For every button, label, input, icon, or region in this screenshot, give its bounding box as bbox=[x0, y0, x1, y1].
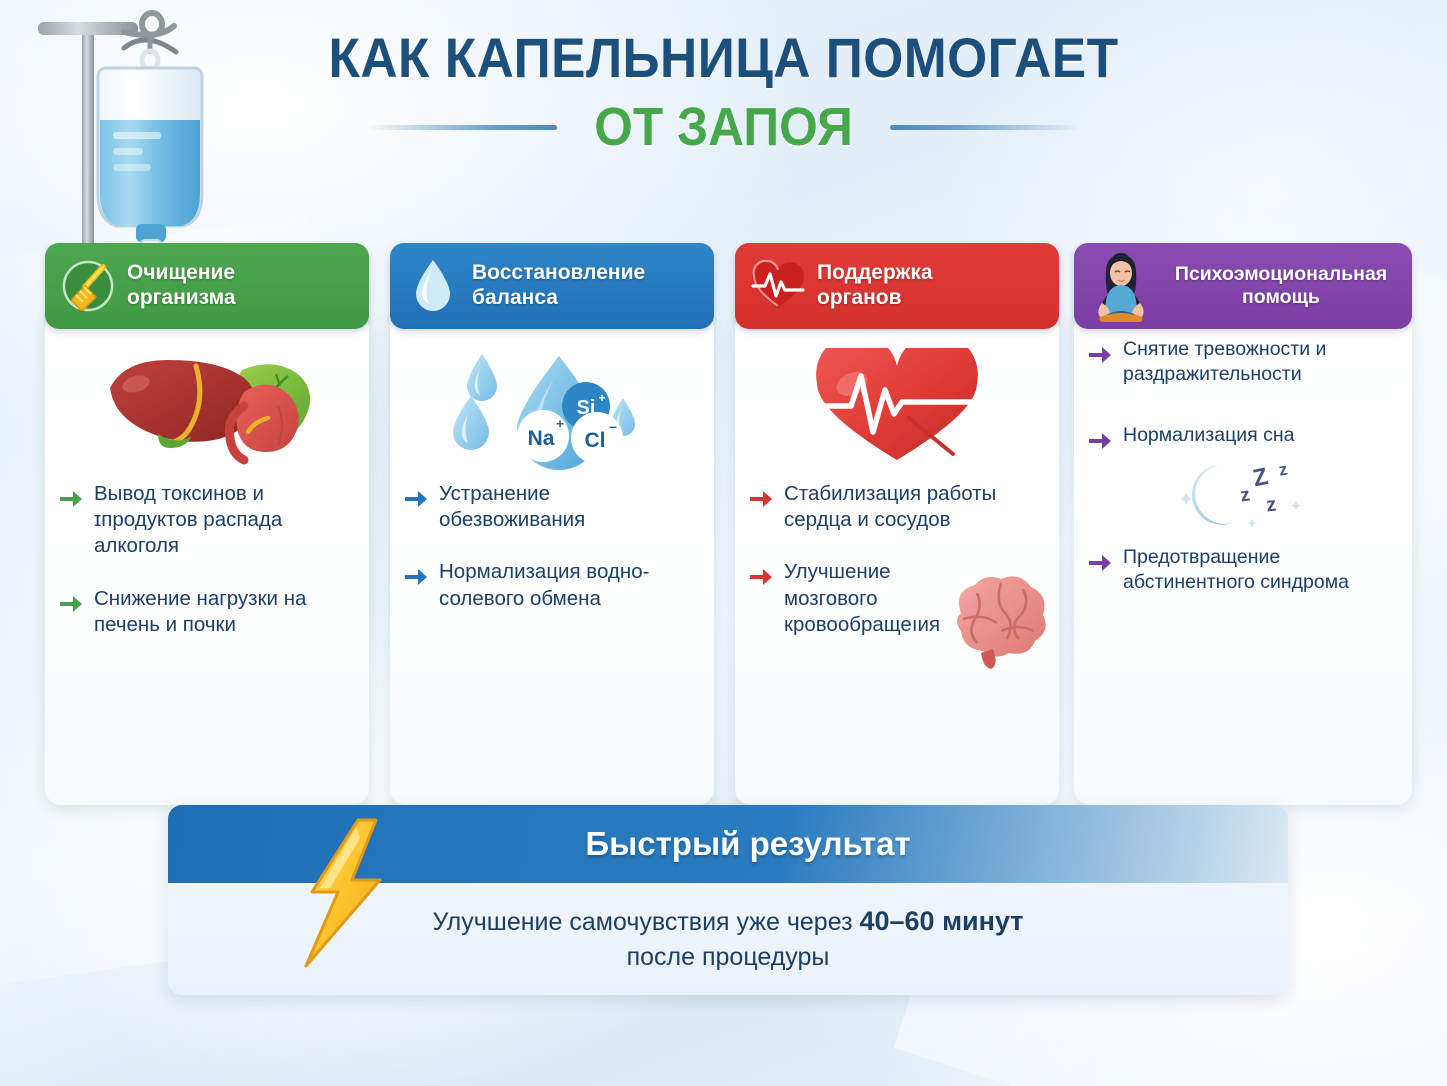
arrow-right-icon bbox=[749, 485, 773, 511]
liver-kidney-leaf-illustration bbox=[59, 345, 355, 471]
card-body: Вывод токсинов и ɪпродуктов распада алко… bbox=[45, 313, 369, 805]
svg-text:z: z bbox=[1239, 484, 1251, 506]
card-title: Поддержкаорганов bbox=[817, 261, 933, 311]
card-header: Психоэмоциональнаяпомощь bbox=[1074, 243, 1412, 329]
banner-text-before: Улучшение самочувствия уже через bbox=[432, 908, 859, 936]
page-subtitle: ОТ ЗАПОЯ bbox=[594, 100, 853, 154]
brain-illustration bbox=[941, 573, 1051, 674]
list-item: Предотвращение абстинентного синдрома bbox=[1088, 545, 1398, 595]
card-title: Очищениеорганизма bbox=[127, 261, 236, 311]
card-header: Очищениеорганизма bbox=[45, 243, 369, 329]
list-item: Снижение нагрузки на печень и почки bbox=[59, 586, 355, 638]
bullet-text: Улучшение мозгового кровообращеıия bbox=[784, 559, 954, 638]
card-bullets: Устранение обезвоживания Нормализация во… bbox=[404, 481, 700, 612]
arrow-right-icon bbox=[749, 563, 773, 589]
banner-text-primary: Улучшение самочувствия уже через 40–60 м… bbox=[432, 906, 1023, 937]
card-bullets: Стабилизация работы сердца и сосудов Улу… bbox=[749, 481, 1045, 638]
list-item: Снятие тревожности и раздражительности bbox=[1088, 337, 1398, 387]
card-ochishchenie[interactable]: Очищениеорганизма bbox=[45, 243, 369, 805]
card-podderzhka[interactable]: Поддержкаорганов bbox=[735, 243, 1059, 805]
title-divider-left bbox=[367, 125, 557, 130]
card-body: Si + Na + Cl – Устран bbox=[390, 313, 714, 805]
heart-with-ecg-illustration bbox=[749, 345, 1045, 471]
svg-text:–: – bbox=[609, 418, 617, 434]
svg-text:Z: Z bbox=[1250, 463, 1270, 492]
arrow-right-icon bbox=[1088, 427, 1112, 453]
bullet-text: Предотвращение абстинентного синдрома bbox=[1123, 545, 1398, 595]
svg-text:z: z bbox=[1277, 459, 1289, 479]
list-item: Нормализация водно-солевого обмена bbox=[404, 559, 700, 611]
list-item: Вывод токсинов и ɪпродуктов распада алко… bbox=[59, 481, 355, 560]
moon-zzz-sleep-illustration: Z z z z bbox=[1088, 459, 1398, 531]
list-item: Устранение обезвоживания bbox=[404, 481, 700, 533]
card-bullets: Снятие тревожности и раздражительности Н… bbox=[1088, 337, 1398, 595]
lightning-bolt-icon bbox=[298, 816, 403, 976]
banner-highlight: 40–60 минут bbox=[859, 906, 1023, 936]
card-body: Стабилизация работы сердца и сосудов Улу… bbox=[735, 313, 1059, 805]
bullet-text: Нормализация сна bbox=[1123, 423, 1294, 453]
svg-text:z: z bbox=[1265, 493, 1277, 516]
arrow-right-icon bbox=[404, 563, 428, 589]
cards-row: Очищениеорганизма bbox=[45, 243, 1410, 743]
page-title-block: КАК КАПЕЛЬНИЦА ПОМОГАЕТ ОТ ЗАПОЯ bbox=[0, 30, 1447, 154]
arrow-right-icon bbox=[404, 485, 428, 511]
bullet-text: Снятие тревожности и раздражительности bbox=[1123, 337, 1398, 387]
page-title: КАК КАПЕЛЬНИЦА ПОМОГАЕТ bbox=[58, 30, 1389, 86]
card-header: Восстановлениебаланса bbox=[390, 243, 714, 329]
arrow-right-icon bbox=[59, 590, 83, 616]
meditating-woman-icon bbox=[1088, 250, 1154, 320]
bullet-text: Вывод токсинов и ɪпродуктов распада алко… bbox=[94, 481, 355, 560]
bullet-text: Устранение обезвоживания bbox=[439, 481, 700, 533]
svg-text:Cl: Cl bbox=[585, 429, 606, 452]
card-title: Психоэмоциональнаяпомощь bbox=[1164, 263, 1398, 309]
list-item: Нормализация сна bbox=[1088, 423, 1398, 453]
arrow-right-icon bbox=[1088, 341, 1112, 367]
card-psihoemocionalnaya[interactable]: Психоэмоциональнаяпомощь Снятие тревожно… bbox=[1074, 243, 1412, 805]
arrow-right-icon bbox=[59, 485, 83, 511]
bullet-text: Снижение нагрузки на печень и почки bbox=[94, 586, 355, 638]
page-subtitle-row: ОТ ЗАПОЯ bbox=[0, 100, 1447, 154]
arrow-right-icon bbox=[1088, 549, 1112, 575]
bullet-text: Нормализация водно-солевого обмена bbox=[439, 559, 700, 611]
banner-title: Быстрый результат bbox=[585, 825, 910, 863]
card-body: Снятие тревожности и раздражительности Н… bbox=[1074, 313, 1412, 805]
bullet-text: Стабилизация работы сердца и сосудов bbox=[784, 481, 1045, 533]
card-bullets: Вывод токсинов и ɪпродуктов распада алко… bbox=[59, 481, 355, 638]
list-item: Улучшение мозгового кровообращеıия bbox=[749, 559, 1045, 638]
heart-pulse-icon bbox=[749, 257, 807, 315]
card-vosstanovlenie[interactable]: Восстановлениебаланса bbox=[390, 243, 714, 805]
infographic-canvas: КАК КАПЕЛЬНИЦА ПОМОГАЕТ ОТ ЗАПОЯ bbox=[0, 0, 1447, 1086]
water-drops-electrolytes-illustration: Si + Na + Cl – bbox=[404, 345, 700, 471]
svg-text:Na: Na bbox=[528, 427, 555, 450]
card-title: Восстановлениебаланса bbox=[472, 261, 645, 311]
list-item: Стабилизация работы сердца и сосудов bbox=[749, 481, 1045, 533]
svg-text:+: + bbox=[556, 416, 564, 431]
banner-text-secondary: после процедуры bbox=[627, 943, 830, 972]
broom-icon bbox=[59, 257, 117, 315]
title-divider-right bbox=[890, 125, 1080, 130]
svg-text:+: + bbox=[598, 391, 605, 405]
water-drop-icon bbox=[404, 257, 462, 315]
card-header: Поддержкаорганов bbox=[735, 243, 1059, 329]
